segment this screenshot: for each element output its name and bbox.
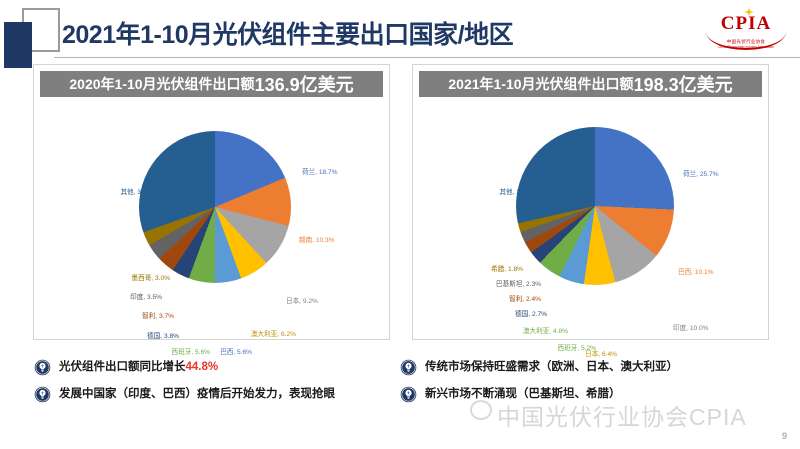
pie-slice-label: 巴西, 5.6% <box>220 346 252 356</box>
bullet-list-left: 光伏组件出口额同比增长44.8%发展中国家（印度、巴西）疫情后开始发力，表现抢眼 <box>34 358 394 412</box>
pie-slice-label: 西班牙, 5.6% <box>172 346 210 356</box>
pie-slice-label: 巴基斯坦, 2.3% <box>496 278 541 288</box>
cpia-logo-subtitle-en: China Photovoltaic Industry Association <box>700 45 792 49</box>
pie-slice-label: 印度, 10.0% <box>673 322 709 332</box>
lightbulb-icon <box>34 386 51 403</box>
pie-slice-label: 日本, 9.2% <box>286 295 318 305</box>
pie-slice-label: 巴西, 10.1% <box>678 266 714 276</box>
page-title: 2021年1-10月光伏组件主要出口国家/地区 <box>62 15 513 51</box>
pie-graphic-2021 <box>516 127 674 285</box>
pie-chart-2021: 荷兰, 25.7%巴西, 10.1%印度, 10.0%日本, 6.4%西班牙, … <box>413 99 768 341</box>
bullet-item: 光伏组件出口额同比增长44.8% <box>34 358 394 376</box>
pie-slice-label: 其他, 28.5% <box>499 186 535 196</box>
pie-slice-label: 墨西哥, 3.0% <box>132 272 170 282</box>
chart-panel-2021: 2021年1-10月光伏组件出口额198.3亿美元 荷兰, 25.7%巴西, 1… <box>412 64 769 340</box>
pie-slice-label: 德国, 2.7% <box>515 308 547 318</box>
cpia-logo: CPIA 中国光伏行业协会 China Photovoltaic Industr… <box>700 6 792 52</box>
bullet-text: 发展中国家（印度、巴西）疫情后开始发力，表现抢眼 <box>59 385 335 403</box>
bullet-text: 传统市场保持旺盛需求（欧洲、日本、澳大利亚） <box>425 358 678 376</box>
pie-slice-label: 德国, 3.8% <box>147 330 179 340</box>
pie-slice-label: 澳大利亚, 4.8% <box>523 325 568 335</box>
pie-slice-label: 智利, 2.4% <box>509 293 541 303</box>
pie-slice-label: 智利, 3.7% <box>142 310 174 320</box>
chart-title-2020: 2020年1-10月光伏组件出口额136.9亿美元 <box>40 71 383 97</box>
chart-title-2020-value: 136.9亿美元 <box>255 71 354 97</box>
pie-chart-2020: 荷兰, 18.7%越南, 10.3%日本, 9.2%澳大利亚, 6.2%巴西, … <box>34 99 389 341</box>
header-divider <box>54 57 800 58</box>
pie-slice-label: 荷兰, 18.7% <box>302 166 338 176</box>
page-number: 9 <box>782 431 787 441</box>
lightbulb-icon <box>400 359 417 376</box>
chart-panel-2020: 2020年1-10月光伏组件出口额136.9亿美元 荷兰, 18.7%越南, 1… <box>33 64 390 340</box>
watermark-circle-icon <box>470 400 492 420</box>
bullet-item: 发展中国家（印度、巴西）疫情后开始发力，表现抢眼 <box>34 385 394 403</box>
lightbulb-icon <box>400 386 417 403</box>
bullet-text: 光伏组件出口额同比增长44.8% <box>59 358 218 376</box>
lightbulb-icon <box>34 359 51 376</box>
pie-slice-label: 西班牙, 5.2% <box>558 342 596 352</box>
pie-graphic-2020 <box>139 131 291 283</box>
slide-root: 2021年1-10月光伏组件主要出口国家/地区 CPIA 中国光伏行业协会 Ch… <box>0 0 800 449</box>
watermark-text: 中国光伏行业协会CPIA <box>497 398 747 432</box>
pie-slice-label: 其他, 30.4% <box>120 186 156 196</box>
pie-slice-label: 希腊, 1.8% <box>491 263 523 273</box>
chart-title-2021-value: 198.3亿美元 <box>634 71 733 97</box>
decor-square-filled <box>4 22 32 68</box>
chart-title-2020-main: 2020年1-10月光伏组件出口额 <box>69 74 254 94</box>
chart-title-2021: 2021年1-10月光伏组件出口额198.3亿美元 <box>419 71 762 97</box>
pie-slice-label: 印度, 3.5% <box>130 291 162 301</box>
bullet-highlight: 44.8% <box>186 361 219 373</box>
bullet-item: 传统市场保持旺盛需求（欧洲、日本、澳大利亚） <box>400 358 795 376</box>
pie-slice-label: 澳大利亚, 6.2% <box>251 328 296 338</box>
pie-slice-label: 越南, 10.3% <box>299 234 335 244</box>
chart-title-2021-main: 2021年1-10月光伏组件出口额 <box>448 74 633 94</box>
pie-slice-label: 荷兰, 25.7% <box>683 168 719 178</box>
